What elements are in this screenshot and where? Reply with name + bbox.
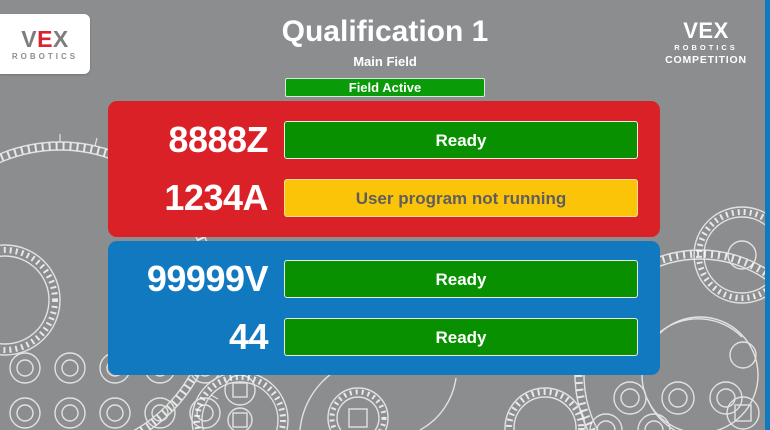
alliance-panel-red: 8888Z Ready 1234A User program not runni… (108, 101, 660, 237)
alliance-panel-blue: 99999V Ready 44 Ready (108, 241, 660, 375)
team-number: 44 (126, 319, 284, 355)
team-number: 8888Z (126, 122, 284, 158)
field-display-screen: VEX ROBOTICS Qualification 1 Main Field … (0, 0, 770, 430)
header: VEX ROBOTICS Qualification 1 Main Field … (0, 0, 770, 100)
vex-robotics-competition-logo: VEX ROBOTICS COMPETITION (654, 20, 758, 65)
team-status-bar[interactable]: User program not running (284, 179, 638, 217)
team-row: 44 Ready (126, 313, 638, 361)
team-status-bar[interactable]: Ready (284, 318, 638, 356)
team-status-bar[interactable]: Ready (284, 121, 638, 159)
team-number: 99999V (126, 261, 284, 297)
team-row: 1234A User program not running (126, 174, 638, 222)
competition-vex-wordmark: VEX (654, 20, 758, 42)
competition-robotics-subtitle: ROBOTICS (654, 44, 758, 52)
team-number: 1234A (126, 180, 284, 216)
team-row: 8888Z Ready (126, 116, 638, 164)
competition-tagline: COMPETITION (654, 55, 758, 66)
team-status-bar[interactable]: Ready (284, 260, 638, 298)
team-row: 99999V Ready (126, 255, 638, 303)
status-badge: Field Active (285, 78, 485, 97)
